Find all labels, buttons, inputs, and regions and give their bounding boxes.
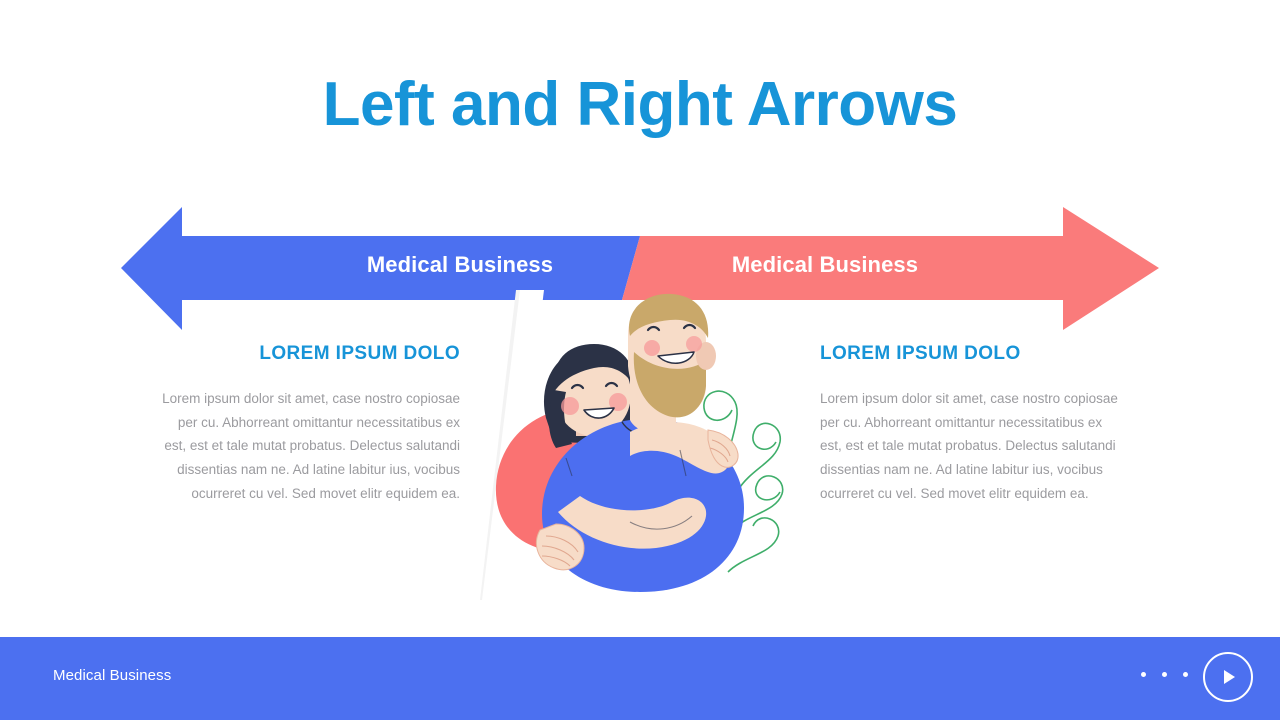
man-cheek-right <box>686 336 702 352</box>
footer-label: Medical Business <box>53 667 171 684</box>
pagination-dot[interactable] <box>1183 672 1188 677</box>
pagination-dots[interactable] <box>1141 672 1188 677</box>
left-column-heading: LOREM IPSUM DOLO <box>160 344 460 365</box>
play-button[interactable] <box>1203 652 1253 702</box>
slide-canvas: Left and Right Arrows Medical Business M… <box>0 0 1280 720</box>
right-column-heading: LOREM IPSUM DOLO <box>820 344 1120 365</box>
left-content-column: LOREM IPSUM DOLO Lorem ipsum dolor sit a… <box>160 344 460 506</box>
pagination-dot[interactable] <box>1141 672 1146 677</box>
couple-embracing-illustration <box>480 290 790 600</box>
page-title: Left and Right Arrows <box>0 72 1280 137</box>
play-icon <box>1224 670 1235 684</box>
left-column-body: Lorem ipsum dolor sit amet, case nostro … <box>160 387 460 506</box>
woman-cheek-left <box>561 397 579 415</box>
right-arrow-label: Medical Business <box>590 252 1060 278</box>
man-cheek <box>644 340 660 356</box>
right-column-body: Lorem ipsum dolor sit amet, case nostro … <box>820 387 1120 506</box>
pagination-dot[interactable] <box>1162 672 1167 677</box>
right-content-column: LOREM IPSUM DOLO Lorem ipsum dolor sit a… <box>820 344 1120 506</box>
footer-bar: Medical Business <box>0 637 1280 720</box>
